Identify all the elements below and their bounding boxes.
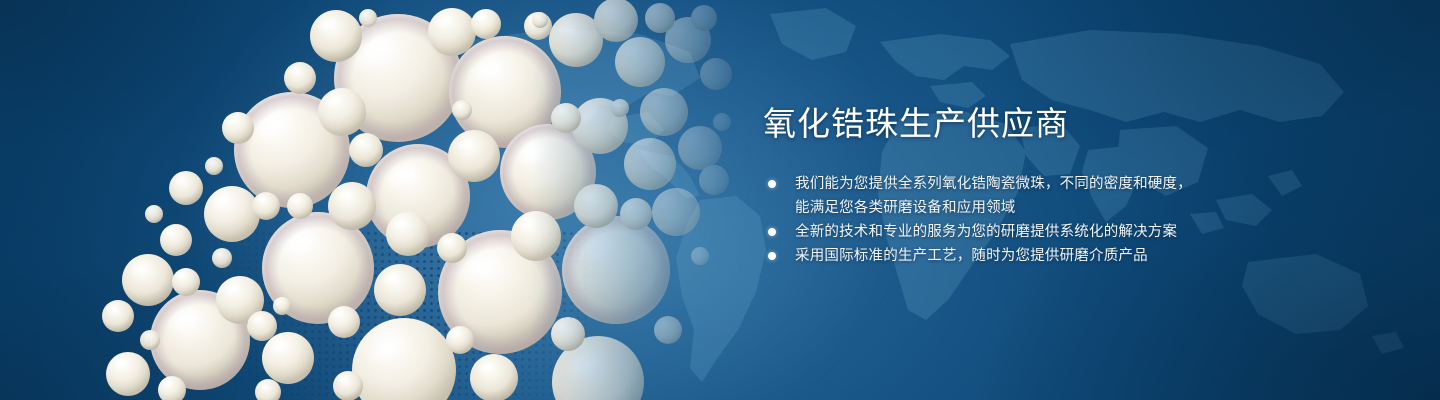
bullet-item-1: 我们能为您提供全系列氧化锆陶瓷微珠，不同的密度和硬度， 能满足您各类研磨设备和应… — [763, 172, 1323, 220]
bullet-1-line-1: 我们能为您提供全系列氧化锆陶瓷微珠，不同的密度和硬度， — [795, 176, 1192, 192]
dot-bullet-icon — [768, 180, 776, 188]
product-hero-banner: 氧化锆珠生产供应商 我们能为您提供全系列氧化锆陶瓷微珠，不同的密度和硬度， 能满… — [0, 0, 1440, 400]
banner-bullet-list: 我们能为您提供全系列氧化锆陶瓷微珠，不同的密度和硬度， 能满足您各类研磨设备和应… — [763, 172, 1323, 268]
bullet-1-line-2: 能满足您各类研磨设备和应用领域 — [795, 196, 1323, 220]
banner-headline: 氧化锆珠生产供应商 — [763, 104, 1323, 144]
bullet-3-line-1: 采用国际标准的生产工艺，随时为您提供研磨介质产品 — [795, 248, 1148, 264]
bullet-item-3: 采用国际标准的生产工艺，随时为您提供研磨介质产品 — [763, 244, 1323, 268]
dot-bullet-icon — [768, 228, 776, 236]
dot-bullet-icon — [768, 252, 776, 260]
banner-copy: 氧化锆珠生产供应商 我们能为您提供全系列氧化锆陶瓷微珠，不同的密度和硬度， 能满… — [763, 104, 1323, 268]
bullet-2-line-1: 全新的技术和专业的服务为您的研磨提供系统化的解决方案 — [795, 224, 1177, 240]
zirconia-beads-photo — [0, 0, 760, 400]
bullet-item-2: 全新的技术和专业的服务为您的研磨提供系统化的解决方案 — [763, 220, 1323, 244]
